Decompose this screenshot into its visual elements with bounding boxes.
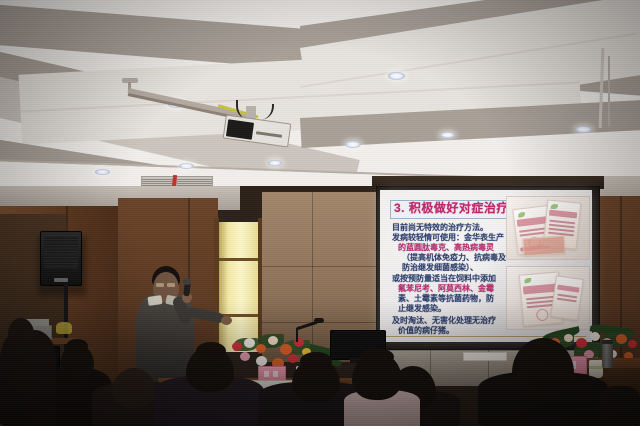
presenter-hand-right (221, 316, 232, 325)
flower-bloom (564, 334, 573, 342)
flower-bloom (288, 354, 298, 363)
flower-bloom (590, 332, 600, 341)
microphone-stem (296, 328, 298, 342)
ceiling-downlight (345, 141, 361, 148)
ceiling-downlight (440, 132, 455, 138)
flower-bloom (240, 352, 250, 361)
audience-hair (300, 352, 332, 370)
ceiling (0, 0, 640, 196)
flower-bloom (628, 340, 637, 348)
speaker-logo (54, 278, 68, 282)
slide-body-line: 价值的病仔猪。 (398, 325, 454, 336)
light-column-frame (214, 218, 219, 354)
photograph-scene: 3. 积极做好对症治疗 目前尚无特效的治疗方法。 发病较轻情可使用：金华表生产 … (0, 0, 640, 426)
flower-bloom (256, 344, 266, 353)
ceiling-downlight (268, 160, 282, 166)
audience-hair (360, 348, 394, 366)
flower-bloom (232, 342, 242, 351)
audience-head (8, 318, 34, 344)
ceiling-downlight (388, 72, 405, 80)
audience-member (0, 330, 56, 426)
slide-title-text: 积极做好对症治疗 (409, 201, 509, 215)
presenter-shirt-collar (147, 295, 162, 306)
microphone-head (183, 278, 191, 285)
flower-bloom (244, 338, 255, 348)
presenter-glasses (167, 283, 175, 287)
panel-seam (262, 266, 382, 267)
audience-head (112, 368, 156, 408)
microphone-head (314, 318, 324, 323)
ceiling-downlight (95, 169, 110, 175)
flower-bloom (256, 356, 267, 366)
slide-title: 3. 积极做好对症治疗 (394, 201, 509, 216)
small-flower-pot (56, 322, 72, 334)
audience-hair (196, 342, 226, 360)
flower-bloom (616, 334, 627, 344)
vacuum-flask (602, 340, 613, 368)
product-photo-top (506, 196, 590, 260)
ceiling-downlight (575, 126, 592, 133)
slide-title-number: 3. (394, 201, 405, 215)
ceiling-downlight (179, 163, 194, 169)
wall-loudspeaker (40, 231, 82, 286)
open-notebook (463, 352, 507, 361)
audience-hair (66, 339, 88, 353)
audience-member (600, 386, 640, 426)
presenter-glasses (156, 283, 164, 287)
slide-body-line: 止继发感染。 (398, 303, 446, 314)
slide-body-line: 防治继发细菌感染）、 (402, 262, 478, 273)
projector-lens (226, 119, 254, 139)
flower-bloom (268, 336, 278, 345)
flower-bloom (576, 338, 587, 348)
speaker-grille (44, 236, 78, 269)
